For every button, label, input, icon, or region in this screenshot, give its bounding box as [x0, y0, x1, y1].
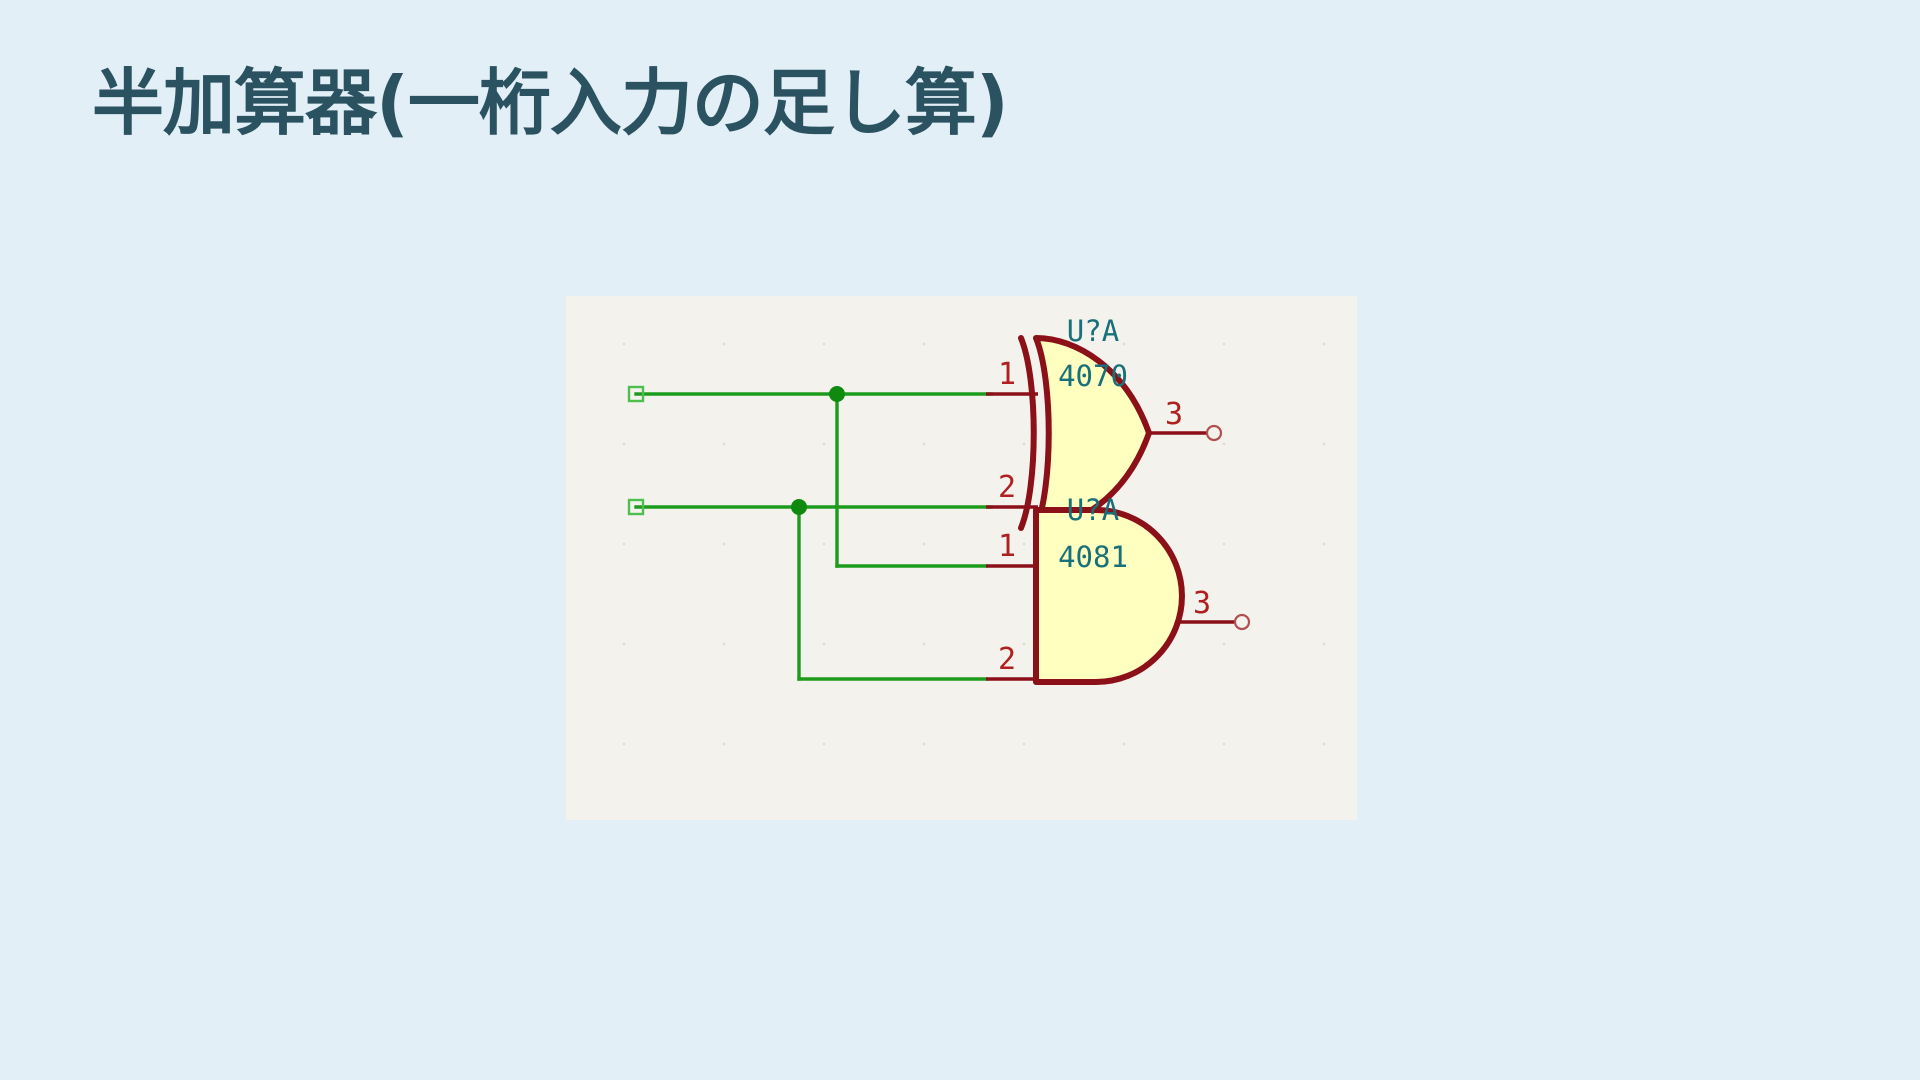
output-terminal-carry-icon — [1235, 615, 1249, 629]
xor-gate-part-number: 4070 — [1058, 359, 1128, 393]
xor-gate-outer-arc — [1021, 338, 1034, 528]
wire-net-b — [636, 507, 991, 679]
junction-dot-a — [829, 386, 845, 402]
xor-pin3-number: 3 — [1165, 397, 1183, 432]
wire-net-a — [636, 394, 991, 566]
half-adder-schematic: 1 2 3 U?A 4070 1 2 3 U?A — [566, 296, 1357, 820]
grid-dots — [623, 343, 1326, 746]
and-gate-body — [1036, 510, 1182, 682]
slide-canvas: 半加算器(一桁入力の足し算) — [0, 0, 1920, 1080]
input-terminals[interactable] — [629, 387, 643, 514]
and-gate-reference: U?A — [1067, 493, 1119, 527]
output-terminal-sum-icon — [1207, 426, 1221, 440]
schematic-panel: 1 2 3 U?A 4070 1 2 3 U?A — [566, 296, 1357, 820]
and-pin2-number: 2 — [998, 642, 1016, 677]
page-title: 半加算器(一桁入力の足し算) — [92, 63, 1008, 144]
and-pin1-number: 1 — [998, 529, 1016, 564]
xor-gate-reference: U?A — [1067, 314, 1119, 348]
xor-pin1-number: 1 — [998, 357, 1016, 392]
and-pin3-number: 3 — [1193, 586, 1211, 621]
junction-dot-b — [791, 499, 807, 515]
and-gate-part-number: 4081 — [1058, 540, 1128, 574]
xor-pin2-number: 2 — [998, 470, 1016, 505]
